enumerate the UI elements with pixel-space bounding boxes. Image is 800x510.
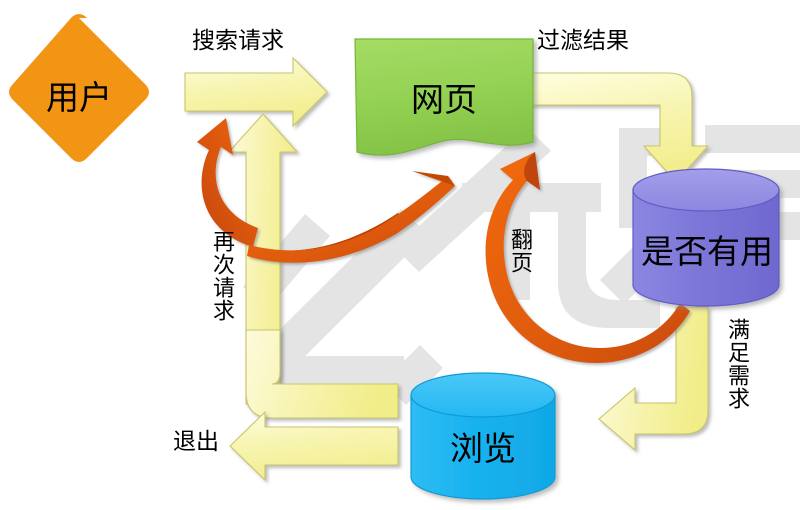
edge-label-turn-page: 翻页	[508, 228, 530, 274]
edge-label-search-request: 搜索请求	[192, 30, 284, 53]
edge-label-meet-demand: 满足需求	[725, 318, 747, 410]
node-user-label: 用户	[33, 71, 125, 119]
node-useful-label: 是否有用	[637, 225, 777, 273]
edge-label-exit: 退出	[173, 431, 219, 454]
node-browse-label: 浏览	[437, 422, 529, 470]
edge-label-request-again: 再次请求	[210, 230, 232, 322]
node-webpage-label: 网页	[398, 73, 490, 121]
edge-label-filter-result: 过滤结果	[537, 30, 629, 53]
diagram-canvas: 用户 网页 是否有用 浏览 搜索请求 过滤结果 满足需求 再次请求 退出 翻页	[0, 0, 800, 510]
